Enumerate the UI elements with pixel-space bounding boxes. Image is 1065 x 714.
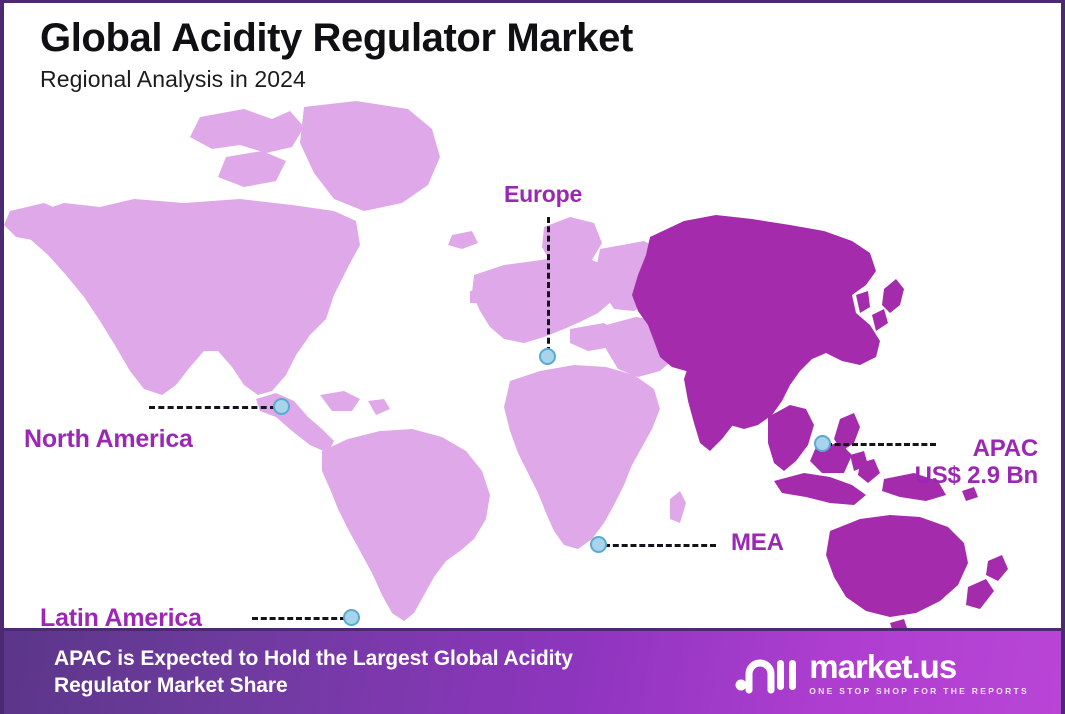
region-korea: [856, 291, 870, 313]
world-map-svg: [4, 99, 1061, 629]
region-australia: [826, 515, 968, 617]
region-nz-north: [986, 555, 1008, 581]
connector-north-america: [149, 406, 276, 409]
header: Global Acidity Regulator Market Regional…: [40, 17, 860, 94]
region-caribbean: [320, 391, 360, 411]
map-regions-highlight: [632, 215, 1008, 629]
banner-headline-line-1: APAC is Expected to Hold the Largest Glo…: [54, 646, 573, 673]
connector-mea: [604, 544, 716, 547]
region-arctic-islands-2: [218, 151, 286, 187]
connector-europe: [547, 217, 550, 353]
region-asia-highlight: [632, 215, 880, 429]
world-map-container: North America Latin America Europe MEA A…: [4, 99, 1061, 629]
region-south-america: [322, 429, 490, 621]
map-pin-dot-apac-icon[interactable]: [814, 435, 831, 452]
region-label-europe: Europe: [504, 181, 582, 207]
region-india: [684, 355, 752, 451]
logo-text-block: market.us ONE STOP SHOP FOR THE REPORTS: [809, 650, 1029, 696]
banner-headline: APAC is Expected to Hold the Largest Glo…: [54, 646, 573, 700]
region-ireland: [470, 289, 482, 303]
region-north-america: [22, 199, 360, 395]
logo-tagline: ONE STOP SHOP FOR THE REPORTS: [809, 687, 1029, 696]
region-greenland: [300, 101, 440, 211]
market-us-signal-mark-icon: [735, 652, 797, 694]
map-pin-dot-latin-america-icon[interactable]: [343, 609, 360, 626]
bottom-banner: APAC is Expected to Hold the Largest Glo…: [4, 628, 1061, 714]
map-pin-dot-europe-icon[interactable]: [539, 348, 556, 365]
region-caribbean-2: [368, 399, 390, 415]
region-label-mea: MEA: [731, 529, 784, 556]
region-iceland: [448, 231, 478, 249]
region-label-apac-value: US$ 2.9 Bn: [832, 462, 1038, 489]
region-nz-south: [966, 579, 994, 609]
region-madagascar: [670, 491, 686, 523]
map-pin-dot-north-america-icon[interactable]: [273, 398, 290, 415]
region-label-north-america: North America: [24, 425, 193, 454]
map-pin-dot-mea-icon[interactable]: [590, 536, 607, 553]
market-us-logo[interactable]: market.us ONE STOP SHOP FOR THE REPORTS: [735, 650, 1035, 696]
infographic-canvas: Global Acidity Regulator Market Regional…: [0, 0, 1065, 714]
region-canada-arctic: [190, 109, 304, 153]
page-subtitle: Regional Analysis in 2024: [40, 66, 860, 94]
logo-wordmark: market.us: [809, 650, 1029, 683]
page-title: Global Acidity Regulator Market: [40, 17, 860, 60]
region-central-america: [256, 393, 334, 453]
region-label-apac: APAC US$ 2.9 Bn: [832, 435, 1038, 490]
region-japan: [882, 279, 904, 313]
region-label-apac-name: APAC: [832, 435, 1038, 462]
region-africa: [504, 365, 660, 549]
region-sea-mainland: [768, 405, 814, 471]
map-regions-default: [4, 101, 686, 621]
connector-latin-america: [252, 617, 346, 620]
region-japan-2: [872, 309, 888, 331]
banner-headline-line-2: Regulator Market Share: [54, 673, 573, 700]
